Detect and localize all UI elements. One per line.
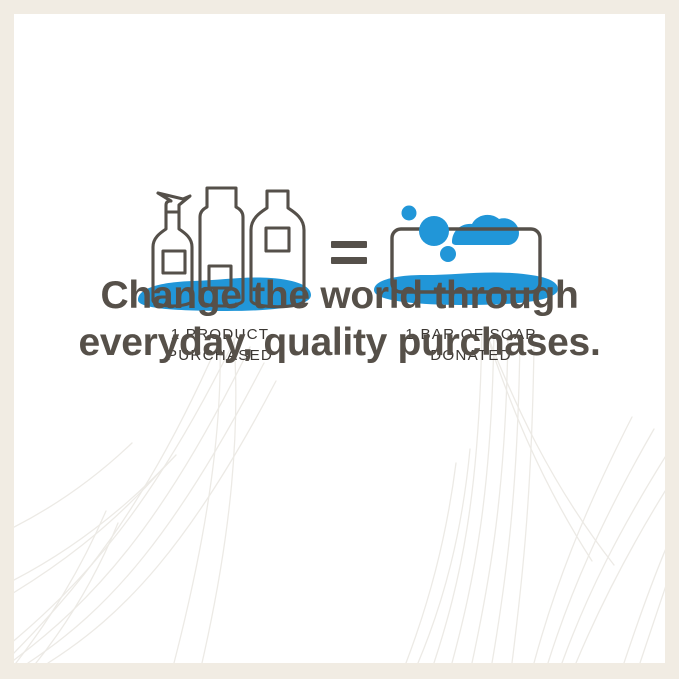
headline-line-1: Change the world through — [14, 272, 665, 319]
bubble-small-top — [402, 206, 417, 221]
pump-bottle-label — [163, 251, 185, 273]
headline: Change the world through everyday, quali… — [14, 272, 665, 366]
headline-line-2: everyday, quality purchases. — [14, 319, 665, 366]
right-bottle-label — [266, 228, 289, 251]
pump-head — [158, 193, 190, 212]
bubble-large — [419, 216, 449, 246]
poster-canvas: 1 PRODUCT PURCHASED — [14, 14, 665, 663]
botanical-watermark — [14, 333, 665, 663]
bubble-tiny — [440, 246, 456, 262]
poster-frame: 1 PRODUCT PURCHASED — [0, 0, 679, 679]
